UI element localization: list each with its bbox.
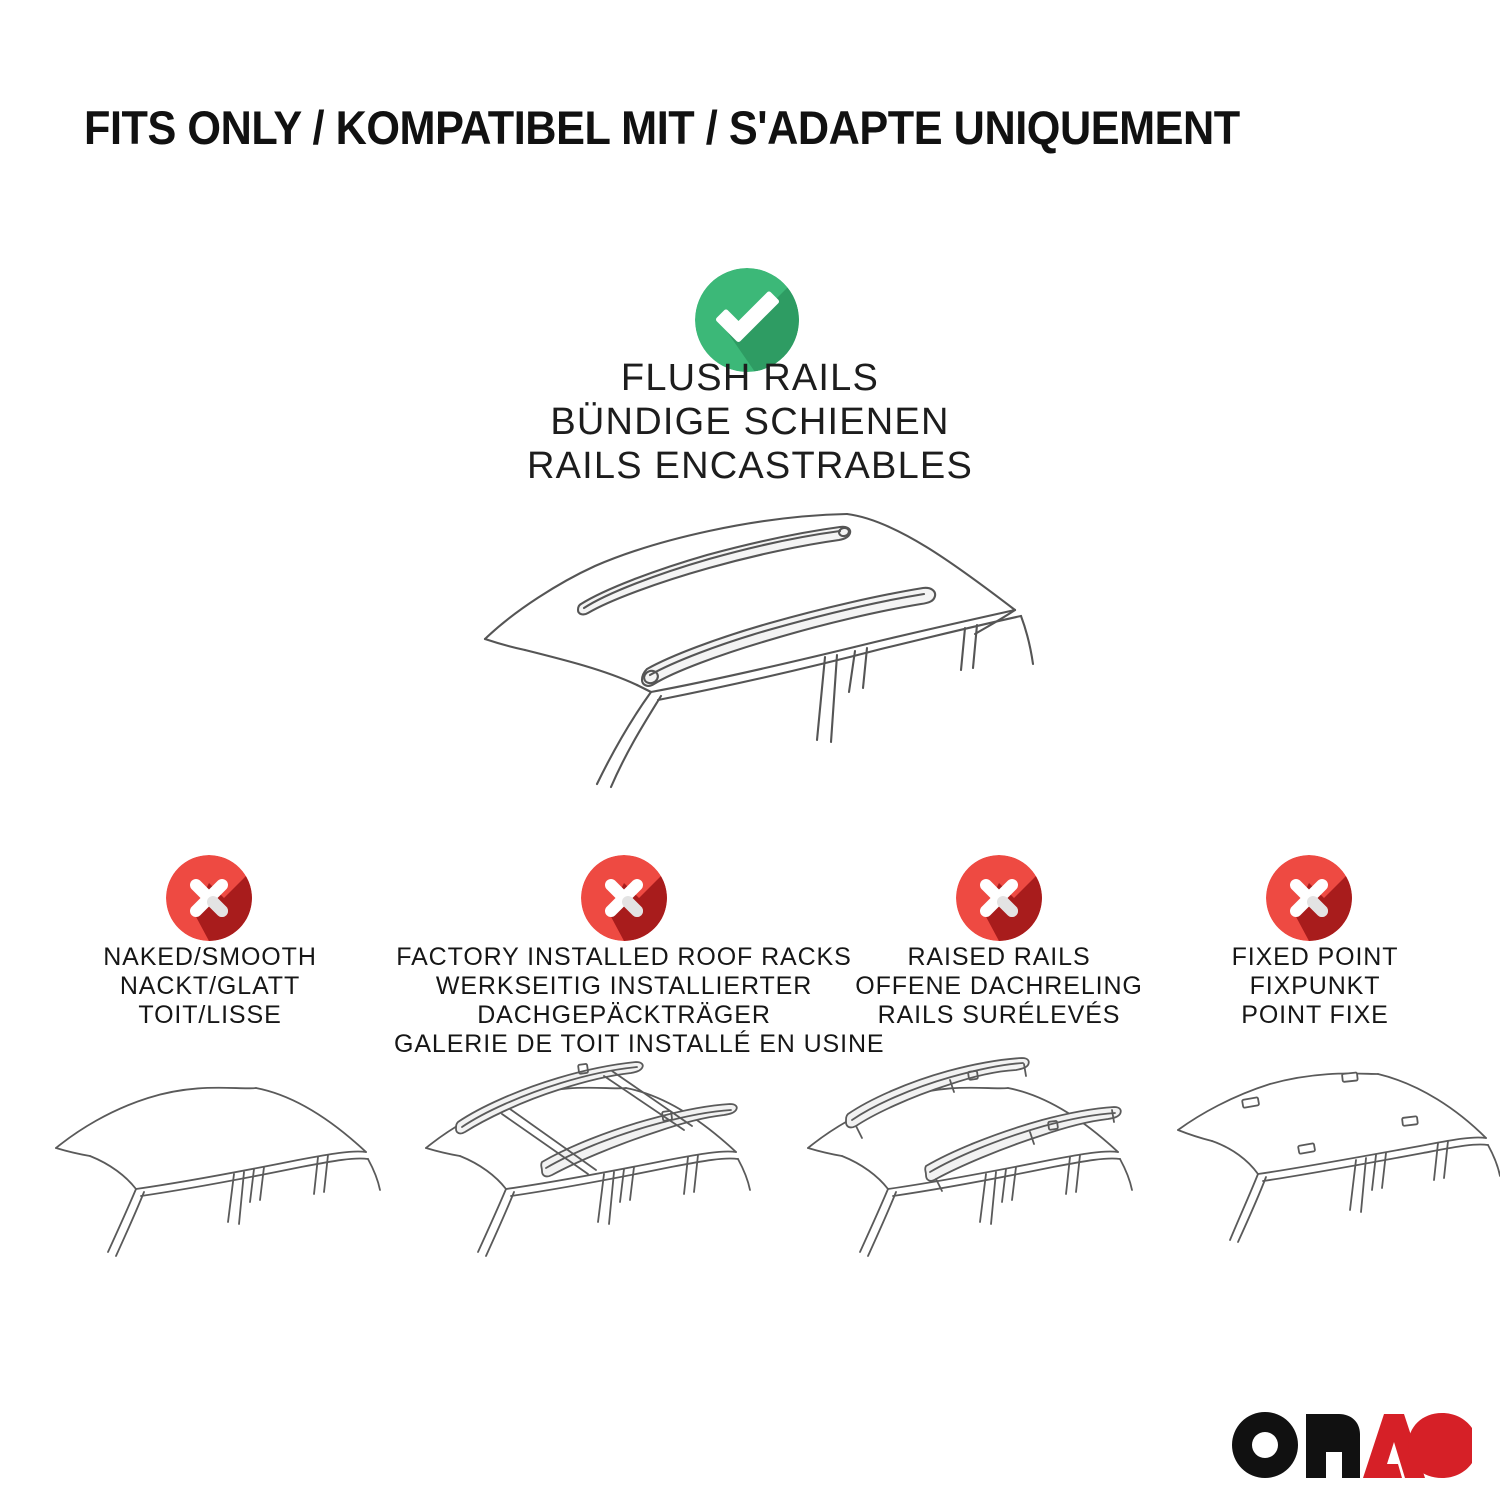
label-line-3: TOIT/LISSE <box>10 1001 410 1030</box>
cross-circle-icon <box>1266 855 1352 941</box>
label-line-2: FIXPUNKT <box>1175 972 1455 1001</box>
label-line-3: DACHGEPÄCKTRÄGER <box>394 1001 854 1030</box>
car-roof-flush-rails-diagram <box>455 492 1055 792</box>
label-line-2: OFFENE DACHRELING <box>829 972 1169 1001</box>
car-roof-fixed-point-diagram <box>1170 1052 1500 1332</box>
incompatible-label-factory-installed-roof-racks: FACTORY INSTALLED ROOF RACKS WERKSEITIG … <box>394 943 854 1059</box>
label-line-2: NACKT/GLATT <box>10 972 410 1001</box>
cross-circle-icon <box>956 855 1042 941</box>
label-line-1: FACTORY INSTALLED ROOF RACKS <box>394 943 854 972</box>
compatible-label-line-2: BÜNDIGE SCHIENEN <box>250 400 1250 444</box>
compatible-label: FLUSH RAILS BÜNDIGE SCHIENEN RAILS ENCAS… <box>250 356 1250 488</box>
label-line-1: RAISED RAILS <box>829 943 1169 972</box>
cross-circle-icon <box>166 855 252 941</box>
car-roof-raised-rails-diagram <box>800 1052 1140 1332</box>
label-line-1: NAKED/SMOOTH <box>10 943 410 972</box>
label-line-1: FIXED POINT <box>1175 943 1455 972</box>
incompatible-label-naked-smooth: NAKED/SMOOTH NACKT/GLATT TOIT/LISSE <box>10 943 410 1030</box>
compatible-label-line-1: FLUSH RAILS <box>250 356 1250 400</box>
label-line-3: POINT FIXE <box>1175 1001 1455 1030</box>
label-line-2: WERKSEITIG INSTALLIERTER <box>394 972 854 1001</box>
omac-logo <box>1232 1412 1472 1478</box>
compatible-label-line-3: RAILS ENCASTRABLES <box>250 444 1250 488</box>
incompatible-label-raised-rails: RAISED RAILS OFFENE DACHRELING RAILS SUR… <box>829 943 1169 1030</box>
incompatible-label-fixed-point: FIXED POINT FIXPUNKT POINT FIXE <box>1175 943 1455 1030</box>
car-roof-factory-racks-diagram <box>418 1052 758 1332</box>
cross-circle-icon <box>581 855 667 941</box>
page-title: FITS ONLY / KOMPATIBEL MIT / S'ADAPTE UN… <box>84 104 1335 151</box>
car-roof-naked-smooth-diagram <box>48 1052 388 1332</box>
label-line-3: RAILS SURÉLEVÉS <box>829 1001 1169 1030</box>
